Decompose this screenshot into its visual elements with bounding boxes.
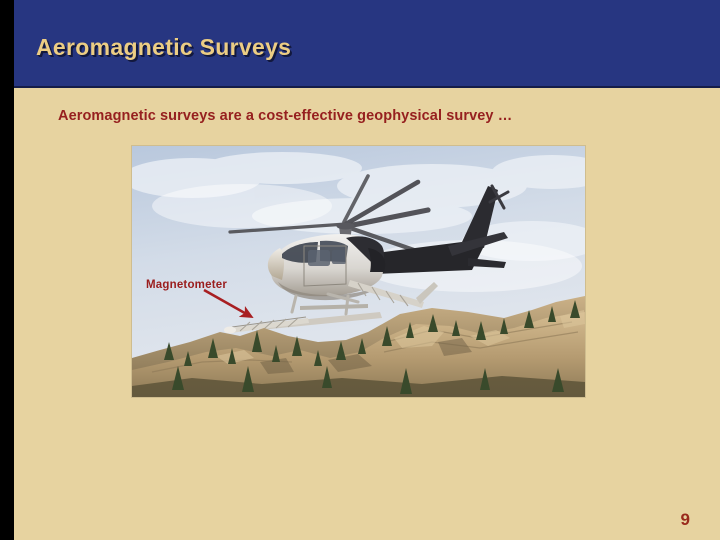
- title-banner: Aeromagnetic Surveys: [14, 0, 720, 88]
- slide: Aeromagnetic Surveys Aeromagnetic survey…: [0, 0, 720, 540]
- slide-subtitle: Aeromagnetic surveys are a cost-effectiv…: [58, 108, 512, 124]
- helicopter-photo-graphic: [132, 146, 585, 397]
- left-gutter: [0, 0, 14, 540]
- page-title: Aeromagnetic Surveys: [36, 34, 291, 61]
- page-number: 9: [681, 510, 690, 530]
- helicopter-photo: [132, 146, 585, 397]
- magnetometer-annotation-label: Magnetometer: [146, 279, 227, 291]
